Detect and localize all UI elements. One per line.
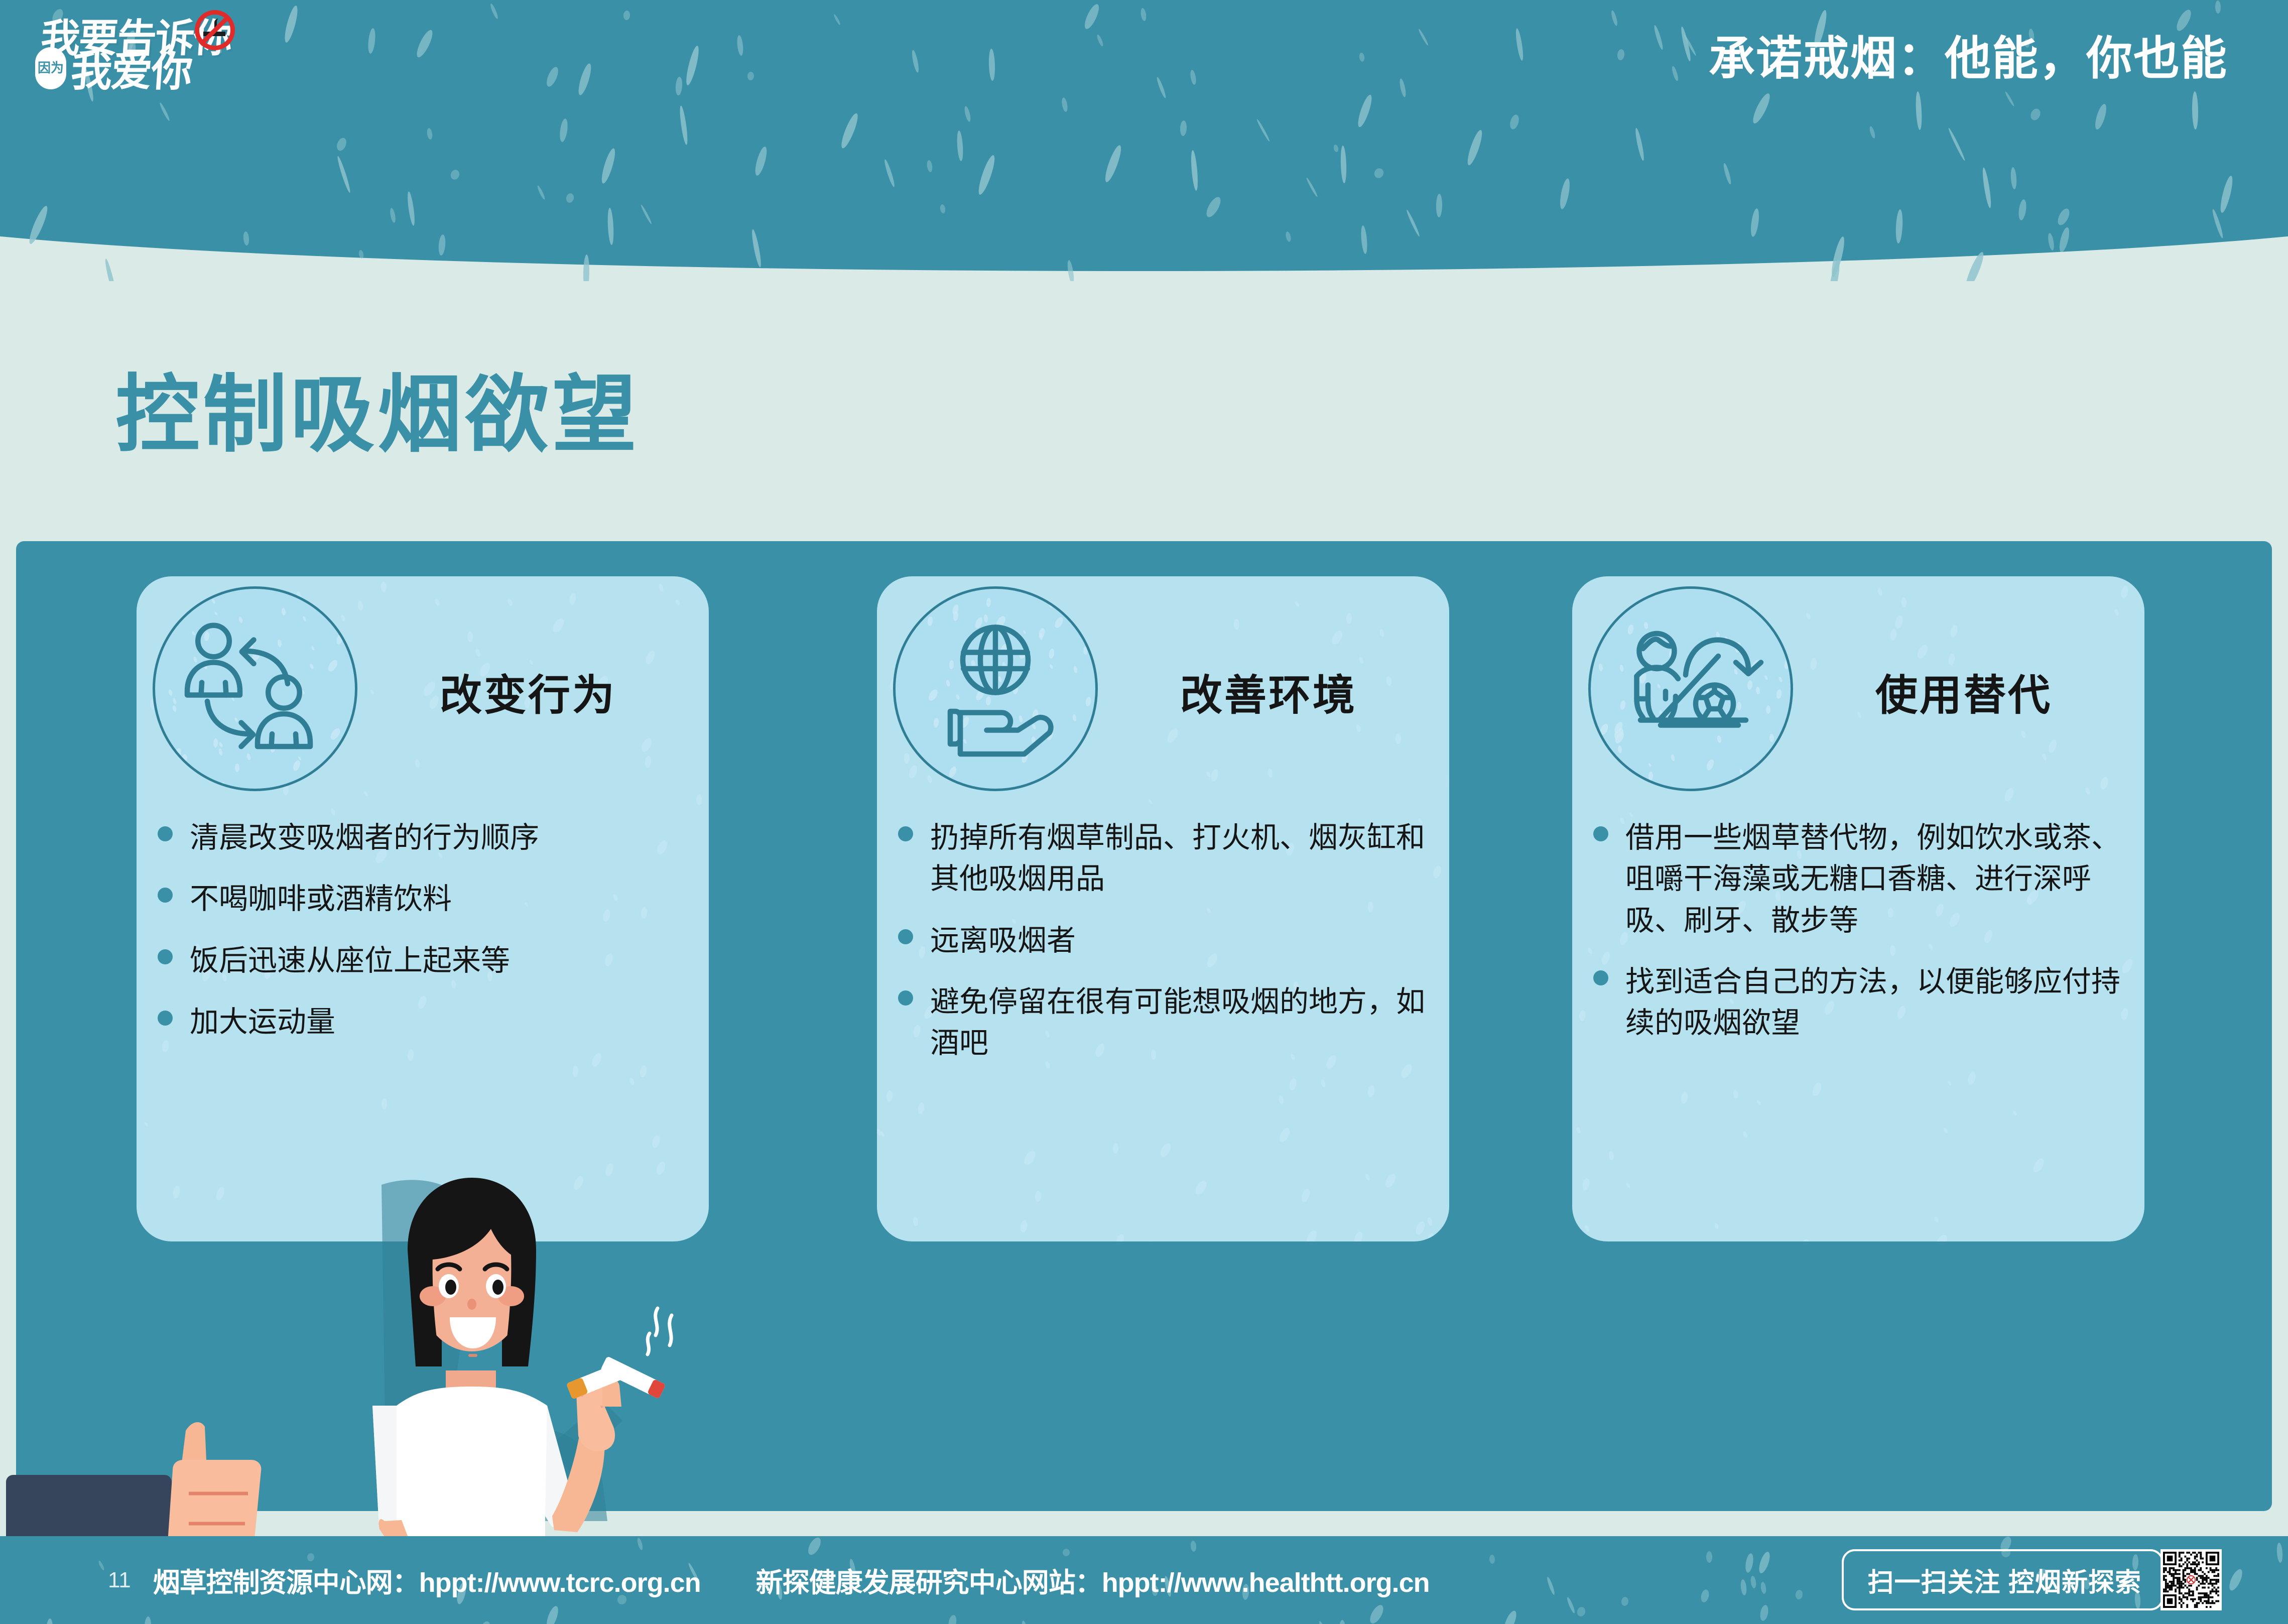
card-title: 使用替代 xyxy=(1793,662,2134,722)
bullet-dot xyxy=(158,888,173,903)
bullet-dot xyxy=(158,826,173,841)
woman-figure xyxy=(372,1178,672,1541)
list-item: 清晨改变吸烟者的行为顺序 xyxy=(158,817,690,858)
smoke-shape xyxy=(214,19,221,31)
list-item: 饭后迅速从座位上起来等 xyxy=(158,940,690,981)
bullet-dot xyxy=(158,1011,173,1026)
logo-line-2-row: 因为 我爱你 xyxy=(35,38,192,98)
bullet-text: 借用一些烟草替代物，例如饮水或茶、咀嚼干海藻或无糖口香糖、进行深呼吸、刷牙、散步… xyxy=(1625,817,2125,941)
bullet-dot xyxy=(1593,970,1608,985)
behavior-change-icon xyxy=(153,586,357,791)
footer-link-tcrc[interactable]: 烟草控制资源中心网：hppt://www.tcrc.org.cn xyxy=(153,1560,701,1600)
bullet-text: 远离吸烟者 xyxy=(930,920,1076,961)
list-item: 扔掉所有烟草制品、打火机、烟灰缸和其他吸烟用品 xyxy=(898,817,1430,900)
bullet-dot xyxy=(898,929,913,944)
bullet-list: 清晨改变吸烟者的行为顺序 不喝咖啡或酒精饮料 饭后迅速从座位上起来等 加大运动量 xyxy=(158,817,690,1063)
bullet-text: 清晨改变吸烟者的行为顺序 xyxy=(190,817,539,858)
globe-in-hand-icon xyxy=(893,586,1098,791)
page-footer: 11 烟草控制资源中心网：hppt://www.tcrc.org.cn 新探健康… xyxy=(0,1536,2288,1624)
bullet-list: 借用一些烟草替代物，例如饮水或茶、咀嚼干海藻或无糖口香糖、进行深呼吸、刷牙、散步… xyxy=(1593,817,2125,1064)
list-item: 加大运动量 xyxy=(158,1002,690,1043)
bullet-dot xyxy=(158,949,173,964)
card-title: 改善环境 xyxy=(1098,662,1439,722)
campaign-logo: 我要告诉你 因为 我爱你 xyxy=(35,7,467,73)
bullet-text: 扔掉所有烟草制品、打火机、烟灰缸和其他吸烟用品 xyxy=(930,817,1430,900)
page-number: 11 xyxy=(108,1568,131,1593)
bullet-text: 加大运动量 xyxy=(190,1002,335,1043)
logo-line-2: 我爱你 xyxy=(69,38,194,98)
header-tagline: 承诺戒烟：他能，你也能 xyxy=(1709,21,2228,88)
page-title: 控制吸烟欲望 xyxy=(115,346,640,468)
card-use-substitute[interactable]: 使用替代 借用一些烟草替代物，例如饮水或茶、咀嚼干海藻或无糖口香糖、进行深呼吸、… xyxy=(1572,576,2144,1241)
bullet-text: 不喝咖啡或酒精饮料 xyxy=(190,879,452,920)
footer-link-healthtt[interactable]: 新探健康发展研究中心网站：hppt://www.healthtt.org.cn xyxy=(756,1560,1430,1600)
qr-label: 扫一扫关注 控烟新探索 xyxy=(1842,1549,2164,1610)
qr-follow-block[interactable]: 扫一扫关注 控烟新探索 xyxy=(1842,1549,2222,1610)
logo-badge: 因为 xyxy=(35,47,66,89)
bullet-dot xyxy=(898,826,913,841)
card-title: 改变行为 xyxy=(357,662,699,722)
bullet-text: 找到适合自己的方法，以便能够应付持续的吸烟欲望 xyxy=(1625,961,2125,1044)
page-header: 我要告诉你 因为 我爱你 承诺戒烟：他能，你也能 xyxy=(0,0,2288,281)
bullet-list: 扔掉所有烟草制品、打火机、烟灰缸和其他吸烟用品 远离吸烟者 避免停留在很有可能想… xyxy=(898,817,1430,1084)
thumbs-up-hand xyxy=(165,1422,261,1541)
qr-code-icon[interactable] xyxy=(2160,1549,2222,1610)
tablet-shape xyxy=(6,1475,172,1541)
list-item: 避免停留在很有可能想吸烟的地方，如酒吧 xyxy=(898,981,1430,1064)
card-improve-environment[interactable]: 改善环境 扔掉所有烟草制品、打火机、烟灰缸和其他吸烟用品 远离吸烟者 避免停留在… xyxy=(877,576,1449,1241)
list-item: 借用一些烟草替代物，例如饮水或茶、咀嚼干海藻或无糖口香糖、进行深呼吸、刷牙、散步… xyxy=(1593,817,2125,941)
bullet-text: 饭后迅速从座位上起来等 xyxy=(190,940,510,981)
bullet-text: 避免停留在很有可能想吸烟的地方，如酒吧 xyxy=(930,981,1430,1064)
list-item: 找到适合自己的方法，以便能够应付持续的吸烟欲望 xyxy=(1593,961,2125,1044)
no-smoking-icon xyxy=(195,10,235,50)
list-item: 远离吸烟者 xyxy=(898,920,1430,961)
bullet-dot xyxy=(898,990,913,1006)
list-item: 不喝咖啡或酒精饮料 xyxy=(158,879,690,920)
illustration-woman-quitting xyxy=(0,1170,753,1541)
cigarette-shape xyxy=(203,32,225,36)
exercise-substitute-icon xyxy=(1588,586,1793,791)
bullet-dot xyxy=(1593,826,1608,841)
card-change-behavior[interactable]: 改变行为 清晨改变吸烟者的行为顺序 不喝咖啡或酒精饮料 饭后迅速从座位上起来等 … xyxy=(137,576,709,1241)
smoke-wisps xyxy=(648,1308,672,1354)
